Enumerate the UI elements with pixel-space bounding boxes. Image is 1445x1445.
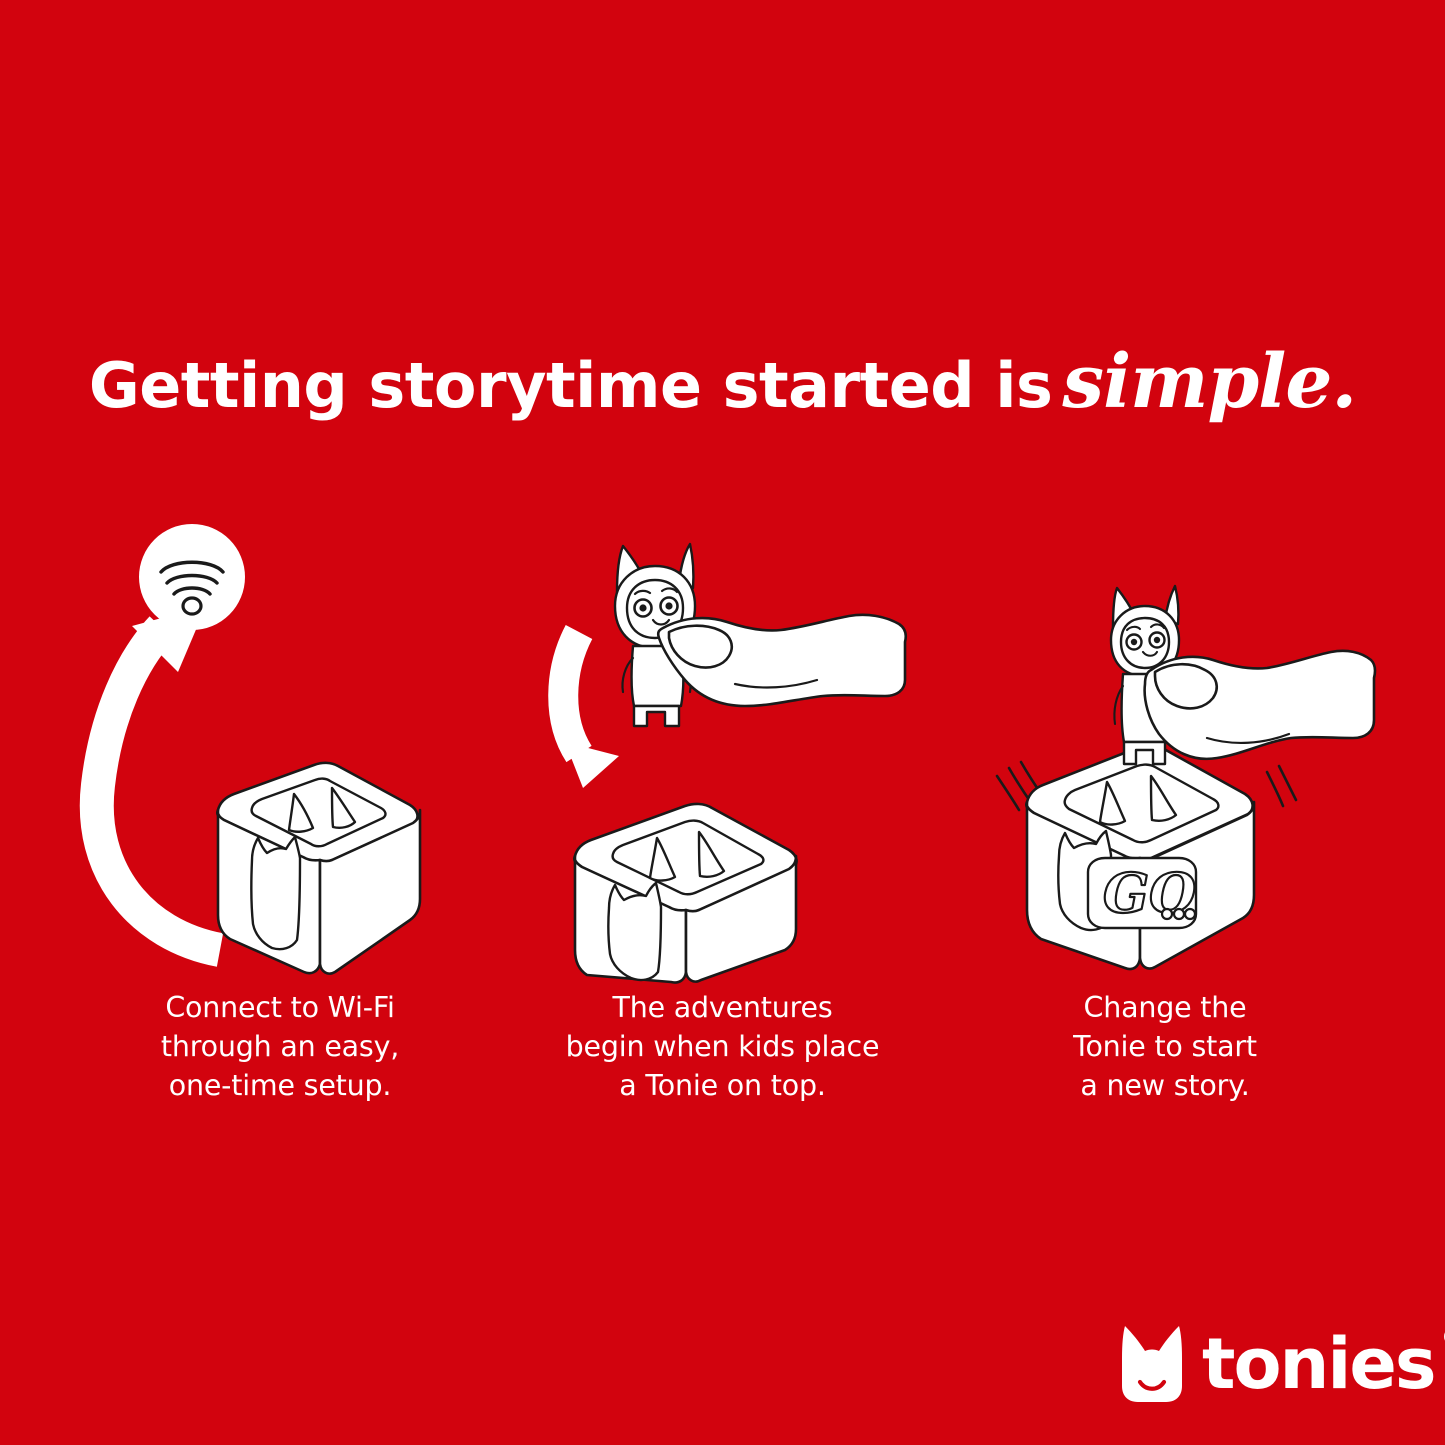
place-tonie-illustration	[513, 520, 933, 990]
headline-accent-text: simple.	[1062, 339, 1356, 425]
brand-wordmark-text: tonies	[1202, 1323, 1435, 1405]
caption-line: one-time setup.	[70, 1066, 490, 1105]
brand-logo: tonies ®	[1118, 1318, 1418, 1410]
toniebox-icon	[217, 763, 420, 974]
curved-down-arrow-icon	[563, 632, 619, 788]
curved-up-arrow-icon	[97, 606, 220, 950]
hand-icon	[1145, 651, 1375, 759]
page-title: Getting storytime started issimple.	[0, 345, 1445, 419]
caption-line: through an easy,	[70, 1027, 490, 1066]
toniebox-icon	[574, 804, 796, 983]
caption-line: Change the	[955, 988, 1375, 1027]
headline-main-text: Getting storytime started is	[89, 349, 1053, 422]
caption-line: a Tonie on top.	[513, 1066, 933, 1105]
poster-canvas: Getting storytime started issimple.	[0, 0, 1445, 1445]
steps-row: Connect to Wi-Fi through an easy, one-ti…	[70, 520, 1375, 1120]
connect-wifi-illustration	[70, 520, 490, 990]
brand-wordmark: tonies ®	[1202, 1329, 1435, 1399]
cat-head-logo-icon	[1118, 1324, 1186, 1404]
step-panel-connect-wifi: Connect to Wi-Fi through an easy, one-ti…	[70, 520, 490, 1120]
caption-line: Connect to Wi-Fi	[70, 988, 490, 1027]
step-caption-connect-wifi: Connect to Wi-Fi through an easy, one-ti…	[70, 988, 490, 1105]
caption-line: Tonie to start	[955, 1027, 1375, 1066]
step-caption-change-tonie: Change the Tonie to start a new story.	[955, 988, 1375, 1105]
toniebox-icon: GO	[1026, 745, 1254, 969]
step-caption-place-tonie: The adventures begin when kids place a T…	[513, 988, 933, 1105]
wifi-icon	[139, 524, 245, 630]
hand-icon	[658, 615, 906, 706]
caption-line: a new story.	[955, 1066, 1375, 1105]
change-tonie-illustration: GO	[955, 520, 1375, 990]
caption-line: begin when kids place	[513, 1027, 933, 1066]
step-panel-change-tonie: GO	[955, 520, 1375, 1120]
registered-trademark-symbol: ®	[1441, 1325, 1445, 1351]
step-panel-place-tonie: The adventures begin when kids place a T…	[513, 520, 933, 1120]
speech-bubble-icon: GO	[1088, 858, 1196, 928]
caption-line: The adventures	[513, 988, 933, 1027]
